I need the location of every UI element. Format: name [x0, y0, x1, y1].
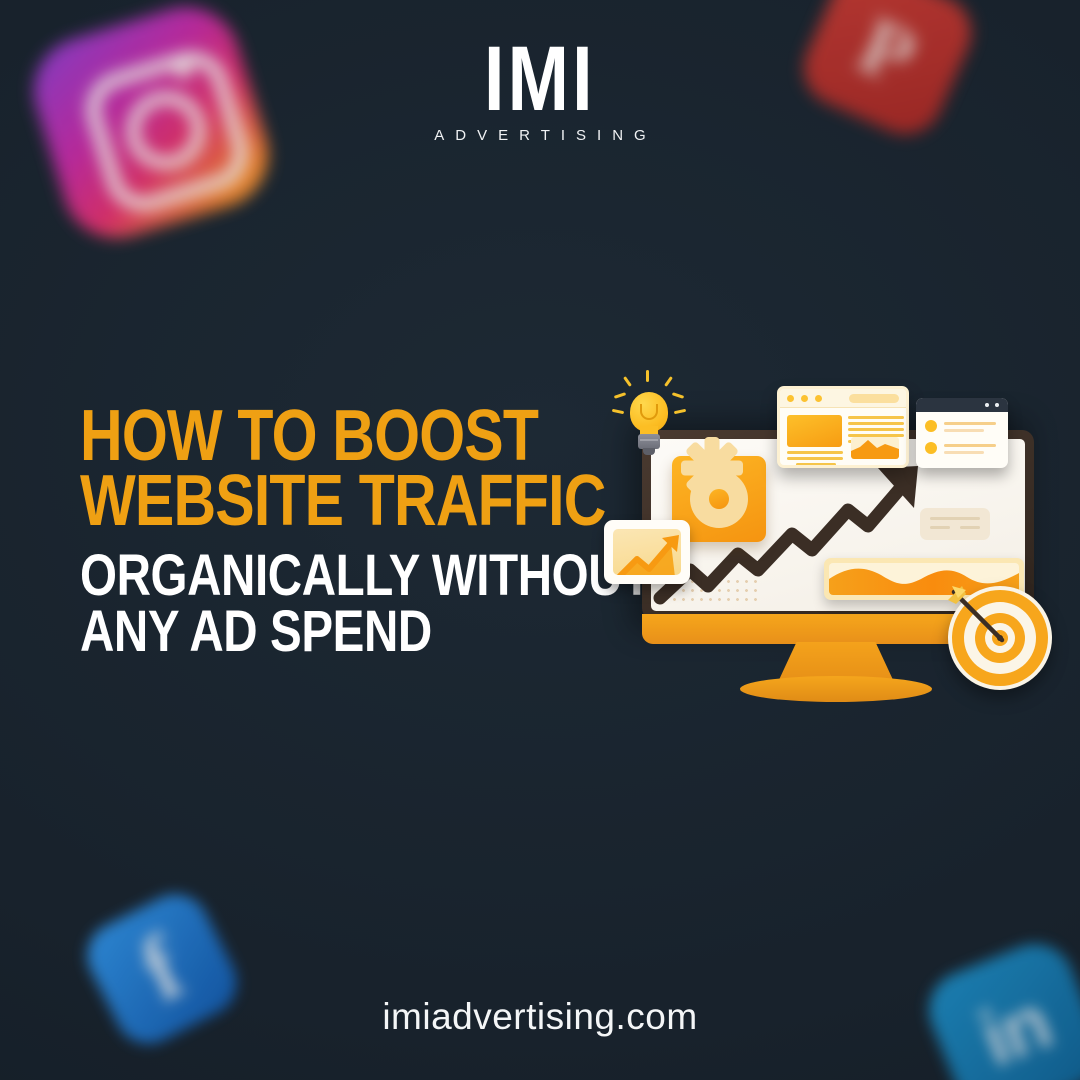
dart-arrow-icon	[946, 584, 1020, 658]
brand-logo: IMI ADVERTISING	[0, 36, 1080, 144]
hero-illustration	[600, 368, 1068, 712]
browser-window-card	[777, 386, 909, 468]
list-card-titlebar	[916, 398, 1008, 412]
trend-chart-card	[604, 520, 690, 584]
logo-mark: IMI	[484, 36, 596, 123]
headline-block: HOW TO BOOST WEBSITE TRAFFIC ORGANICALLY…	[80, 404, 620, 660]
dartboard-target	[948, 586, 1052, 690]
headline-line-1: HOW TO BOOST	[80, 404, 523, 469]
headline-line-4: ANY AD SPEND	[80, 604, 523, 660]
browser-mini-area-chart	[851, 437, 899, 459]
lightbulb-icon	[610, 370, 688, 462]
footer-website[interactable]: imiadvertising.com	[0, 996, 1080, 1038]
gear-icon	[690, 470, 748, 528]
headline-line-2: WEBSITE TRAFFIC	[80, 469, 523, 534]
browser-toolbar	[780, 389, 906, 408]
monitor-stand-foot	[740, 676, 932, 702]
list-card	[916, 398, 1008, 468]
headline-line-3: ORGANICALLY WITHOUT	[80, 548, 523, 604]
ui-widget-card	[920, 508, 990, 540]
poster-canvas: P f in IMI ADVERTISING HOW TO BOOST WEBS…	[0, 0, 1080, 1080]
browser-hero-block	[787, 415, 842, 447]
browser-url-bar	[849, 394, 899, 403]
